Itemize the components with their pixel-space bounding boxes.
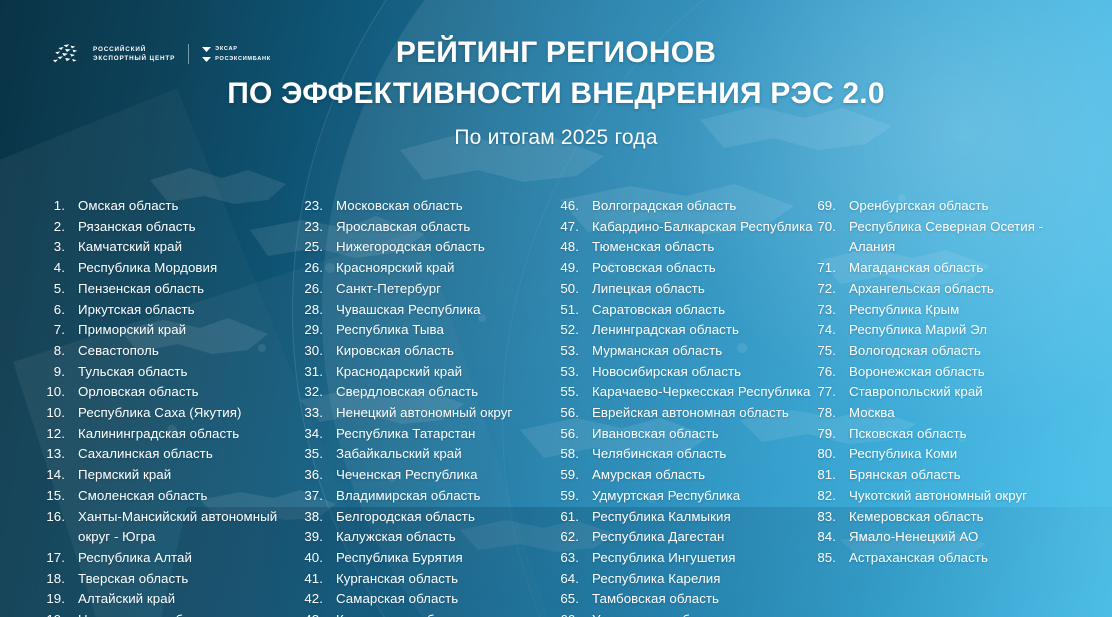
ranking-position: 85. (815, 548, 849, 569)
ranking-row: 18.Тверская область (44, 569, 302, 590)
ranking-row: 25.Нижегородская область (302, 237, 558, 258)
ranking-row: 30.Кировская область (302, 341, 558, 362)
ranking-position: 64. (558, 569, 592, 590)
ranking-region-name: Псковская область (849, 424, 1086, 445)
ranking-position: 15. (44, 486, 78, 507)
ranking-position: 83. (815, 507, 849, 528)
ranking-row: 55.Карачаево-Черкесская Республика (558, 382, 815, 403)
ranking-region-name: Астраханская область (849, 548, 1086, 569)
ranking-region-name: Краснодарский край (336, 362, 558, 383)
ranking-position: 18. (44, 569, 78, 590)
ranking-position: 5. (44, 279, 78, 300)
ranking-row: 12.Калининградская область (44, 424, 302, 445)
ranking-row: 3.Камчатский край (44, 237, 302, 258)
ranking-row: 9.Тульская область (44, 362, 302, 383)
ranking-row: 23.Московская область (302, 196, 558, 217)
ranking-region-name: Кемеровская область (849, 507, 1086, 528)
ranking-row: 79.Псковская область (815, 424, 1086, 445)
ranking-row: 77.Ставропольский край (815, 382, 1086, 403)
ranking-row: 1.Омская область (44, 196, 302, 217)
ranking-row: 17.Республика Алтай (44, 548, 302, 569)
ranking-row: 32.Свердловская область (302, 382, 558, 403)
ranking-position: 63. (558, 548, 592, 569)
ranking-position: 26. (302, 258, 336, 279)
ranking-row: 76.Воронежская область (815, 362, 1086, 383)
page-title: РЕЙТИНГ РЕГИОНОВ ПО ЭФФЕКТИВНОСТИ ВНЕДРЕ… (0, 33, 1112, 115)
ranking-position: 51. (558, 300, 592, 321)
ranking-row: 74.Республика Марий Эл (815, 320, 1086, 341)
ranking-row: 8.Севастополь (44, 341, 302, 362)
ranking-row: 72.Архангельская область (815, 279, 1086, 300)
ranking-region-name: Саратовская область (592, 300, 815, 321)
ranking-region-name: Тульская область (78, 362, 302, 383)
ranking-position: 16. (44, 507, 78, 528)
ranking-region-name: Калужская область (336, 527, 558, 548)
ranking-row: 15.Смоленская область (44, 486, 302, 507)
ranking-row: 51.Саратовская область (558, 300, 815, 321)
ranking-row: 83.Кемеровская область (815, 507, 1086, 528)
ranking-row: 61.Республика Калмыкия (558, 507, 815, 528)
ranking-row: 81.Брянская область (815, 465, 1086, 486)
ranking-region-name: Воронежская область (849, 362, 1086, 383)
ranking-position: 69. (815, 196, 849, 217)
ranking-position: 58. (558, 444, 592, 465)
ranking-row: 84.Ямало-Ненецкий АО (815, 527, 1086, 548)
ranking-position: 23. (302, 217, 336, 238)
ranking-region-name: Республика Бурятия (336, 548, 558, 569)
ranking-position: 17. (44, 548, 78, 569)
ranking-row: 71.Магаданская область (815, 258, 1086, 279)
ranking-row: 42.Самарская область (302, 589, 558, 610)
ranking-position: 26. (302, 279, 336, 300)
ranking-position: 12. (44, 424, 78, 445)
ranking-region-name: Еврейская автономная область (592, 403, 815, 424)
ranking-row: 23.Ярославская область (302, 217, 558, 238)
ranking-position: 8. (44, 341, 78, 362)
ranking-position: 31. (302, 362, 336, 383)
ranking-row: 10.Орловская область (44, 382, 302, 403)
ranking-region-name: Новгородская область (78, 610, 302, 617)
ranking-region-name: Республика Саха (Якутия) (78, 403, 302, 424)
ranking-position: 59. (558, 486, 592, 507)
ranking-position: 2. (44, 217, 78, 238)
ranking-row: 7.Приморский край (44, 320, 302, 341)
ranking-row: 33.Ненецкий автономный округ (302, 403, 558, 424)
ranking-region-name: Магаданская область (849, 258, 1086, 279)
ranking-position: 70. (815, 217, 849, 238)
ranking-row: 43.Костромская область (302, 610, 558, 617)
ranking-position: 41. (302, 569, 336, 590)
ranking-row: 34.Республика Татарстан (302, 424, 558, 445)
ranking-region-name: Севастополь (78, 341, 302, 362)
ranking-row: 40.Республика Бурятия (302, 548, 558, 569)
ranking-row: 53.Мурманская область (558, 341, 815, 362)
ranking-region-name: Республика Северная Осетия - Алания (849, 217, 1086, 258)
ranking-region-name: Сахалинская область (78, 444, 302, 465)
ranking-region-name: Волгоградская область (592, 196, 815, 217)
ranking-region-name: Санкт-Петербург (336, 279, 558, 300)
ranking-row: 75.Вологодская область (815, 341, 1086, 362)
ranking-position: 53. (558, 341, 592, 362)
ranking-region-name: Вологодская область (849, 341, 1086, 362)
ranking-region-name: Кабардино-Балкарская Республика (592, 217, 815, 238)
ranking-region-name: Костромская область (336, 610, 558, 617)
ranking-region-name: Иркутская область (78, 300, 302, 321)
ranking-region-name: Чукотский автономный округ (849, 486, 1086, 507)
ranking-region-name: Московская область (336, 196, 558, 217)
ranking-region-name: Мурманская область (592, 341, 815, 362)
ranking-position: 74. (815, 320, 849, 341)
ranking-region-name: Самарская область (336, 589, 558, 610)
ranking-region-name: Смоленская область (78, 486, 302, 507)
ranking-position: 10. (44, 382, 78, 403)
ranking-row: 16.Ханты-Мансийский автономный округ - Ю… (44, 507, 302, 548)
page-title-line-1: РЕЙТИНГ РЕГИОНОВ (0, 33, 1112, 74)
ranking-region-name: Нижегородская область (336, 237, 558, 258)
ranking-region-name: Забайкальский край (336, 444, 558, 465)
ranking-row: 66.Ульяновская область (558, 610, 815, 617)
ranking-row: 59.Удмуртская Республика (558, 486, 815, 507)
ranking-region-name: Тверская область (78, 569, 302, 590)
ranking-row: 37.Владимирская область (302, 486, 558, 507)
ranking-position: 76. (815, 362, 849, 383)
ranking-region-name: Ивановская область (592, 424, 815, 445)
ranking-position: 29. (302, 320, 336, 341)
ranking-position: 43. (302, 610, 336, 617)
ranking-region-name: Кировская область (336, 341, 558, 362)
ranking-position: 80. (815, 444, 849, 465)
ranking-region-name: Республика Калмыкия (592, 507, 815, 528)
ranking-row: 39.Калужская область (302, 527, 558, 548)
ranking-position: 53. (558, 362, 592, 383)
ranking-region-name: Тамбовская область (592, 589, 815, 610)
ranking-row: 56.Еврейская автономная область (558, 403, 815, 424)
ranking-row: 4.Республика Мордовия (44, 258, 302, 279)
ranking-column-3: 46.Волгоградская область47.Кабардино-Бал… (558, 196, 815, 617)
ranking-columns: 1.Омская область2.Рязанская область3.Кам… (44, 196, 1086, 617)
ranking-region-name: Красноярский край (336, 258, 558, 279)
ranking-row: 36.Чеченская Республика (302, 465, 558, 486)
ranking-row: 5.Пензенская область (44, 279, 302, 300)
page-title-line-2: ПО ЭФФЕКТИВНОСТИ ВНЕДРЕНИЯ РЭС 2.0 (0, 74, 1112, 115)
ranking-row: 47.Кабардино-Балкарская Республика (558, 217, 815, 238)
ranking-position: 19. (44, 589, 78, 610)
ranking-position: 47. (558, 217, 592, 238)
ranking-region-name: Ульяновская область (592, 610, 815, 617)
ranking-row: 69.Оренбургская область (815, 196, 1086, 217)
ranking-position: 56. (558, 403, 592, 424)
ranking-row: 48.Тюменская область (558, 237, 815, 258)
ranking-position: 42. (302, 589, 336, 610)
ranking-position: 61. (558, 507, 592, 528)
ranking-row: 13.Сахалинская область (44, 444, 302, 465)
ranking-row: 6.Иркутская область (44, 300, 302, 321)
ranking-row: 19.Новгородская область (44, 610, 302, 617)
ranking-region-name: Тюменская область (592, 237, 815, 258)
ranking-region-name: Оренбургская область (849, 196, 1086, 217)
ranking-row: 65.Тамбовская область (558, 589, 815, 610)
page-subtitle: По итогам 2025 года (0, 126, 1112, 150)
ranking-region-name: Чеченская Республика (336, 465, 558, 486)
ranking-position: 75. (815, 341, 849, 362)
ranking-region-name: Белгородская область (336, 507, 558, 528)
ranking-position: 40. (302, 548, 336, 569)
ranking-region-name: Пермский край (78, 465, 302, 486)
ranking-row: 26.Санкт-Петербург (302, 279, 558, 300)
ranking-row: 38.Белгородская область (302, 507, 558, 528)
ranking-region-name: Ставропольский край (849, 382, 1086, 403)
ranking-region-name: Ямало-Ненецкий АО (849, 527, 1086, 548)
ranking-row: 49.Ростовская область (558, 258, 815, 279)
ranking-position: 49. (558, 258, 592, 279)
ranking-position: 32. (302, 382, 336, 403)
ranking-position: 34. (302, 424, 336, 445)
ranking-region-name: Орловская область (78, 382, 302, 403)
ranking-region-name: Ростовская область (592, 258, 815, 279)
ranking-region-name: Республика Татарстан (336, 424, 558, 445)
ranking-region-name: Республика Коми (849, 444, 1086, 465)
ranking-region-name: Чувашская Республика (336, 300, 558, 321)
ranking-region-name: Липецкая область (592, 279, 815, 300)
ranking-position: 66. (558, 610, 592, 617)
ranking-row: 58.Челябинская область (558, 444, 815, 465)
slide-root: РОССИЙСКИЙ ЭКСПОРТНЫЙ ЦЕНТР ЭКСАР РОСЭКС… (0, 0, 1112, 617)
ranking-region-name: Новосибирская область (592, 362, 815, 383)
ranking-region-name: Пензенская область (78, 279, 302, 300)
ranking-region-name: Рязанская область (78, 217, 302, 238)
ranking-position: 33. (302, 403, 336, 424)
ranking-region-name: Республика Крым (849, 300, 1086, 321)
ranking-region-name: Москва (849, 403, 1086, 424)
ranking-position: 84. (815, 527, 849, 548)
ranking-position: 35. (302, 444, 336, 465)
ranking-position: 36. (302, 465, 336, 486)
ranking-region-name: Республика Тыва (336, 320, 558, 341)
ranking-position: 46. (558, 196, 592, 217)
ranking-region-name: Омская область (78, 196, 302, 217)
ranking-position: 28. (302, 300, 336, 321)
ranking-region-name: Ненецкий автономный округ (336, 403, 558, 424)
ranking-region-name: Приморский край (78, 320, 302, 341)
ranking-row: 82.Чукотский автономный округ (815, 486, 1086, 507)
ranking-region-name: Алтайский край (78, 589, 302, 610)
ranking-row: 63.Республика Ингушетия (558, 548, 815, 569)
ranking-region-name: Камчатский край (78, 237, 302, 258)
ranking-region-name: Архангельская область (849, 279, 1086, 300)
ranking-row: 31.Краснодарский край (302, 362, 558, 383)
ranking-region-name: Брянская область (849, 465, 1086, 486)
ranking-position: 72. (815, 279, 849, 300)
ranking-row: 70.Республика Северная Осетия - Алания (815, 217, 1086, 258)
ranking-row: 26.Красноярский край (302, 258, 558, 279)
ranking-position: 71. (815, 258, 849, 279)
ranking-position: 79. (815, 424, 849, 445)
ranking-position: 55. (558, 382, 592, 403)
ranking-region-name: Ярославская область (336, 217, 558, 238)
ranking-row: 10.Республика Саха (Якутия) (44, 403, 302, 424)
ranking-region-name: Республика Дагестан (592, 527, 815, 548)
ranking-position: 9. (44, 362, 78, 383)
ranking-row: 46.Волгоградская область (558, 196, 815, 217)
ranking-row: 62.Республика Дагестан (558, 527, 815, 548)
ranking-position: 25. (302, 237, 336, 258)
ranking-position: 1. (44, 196, 78, 217)
ranking-row: 64.Республика Карелия (558, 569, 815, 590)
ranking-position: 78. (815, 403, 849, 424)
ranking-region-name: Карачаево-Черкесская Республика (592, 382, 815, 403)
ranking-position: 39. (302, 527, 336, 548)
ranking-row: 50.Липецкая область (558, 279, 815, 300)
ranking-position: 37. (302, 486, 336, 507)
ranking-position: 62. (558, 527, 592, 548)
ranking-region-name: Республика Алтай (78, 548, 302, 569)
ranking-position: 30. (302, 341, 336, 362)
ranking-position: 77. (815, 382, 849, 403)
ranking-row: 80.Республика Коми (815, 444, 1086, 465)
ranking-row: 78.Москва (815, 403, 1086, 424)
ranking-row: 56.Ивановская область (558, 424, 815, 445)
ranking-position: 48. (558, 237, 592, 258)
ranking-position: 59. (558, 465, 592, 486)
ranking-position: 6. (44, 300, 78, 321)
ranking-region-name: Удмуртская Республика (592, 486, 815, 507)
ranking-region-name: Свердловская область (336, 382, 558, 403)
ranking-row: 73.Республика Крым (815, 300, 1086, 321)
ranking-region-name: Республика Карелия (592, 569, 815, 590)
ranking-position: 14. (44, 465, 78, 486)
ranking-row: 19.Алтайский край (44, 589, 302, 610)
ranking-column-2: 23.Московская область23.Ярославская обла… (302, 196, 558, 617)
ranking-region-name: Республика Мордовия (78, 258, 302, 279)
ranking-row: 53.Новосибирская область (558, 362, 815, 383)
ranking-row: 52.Ленинградская область (558, 320, 815, 341)
ranking-row: 59.Амурская область (558, 465, 815, 486)
ranking-position: 13. (44, 444, 78, 465)
ranking-position: 73. (815, 300, 849, 321)
ranking-position: 38. (302, 507, 336, 528)
ranking-region-name: Калининградская область (78, 424, 302, 445)
ranking-region-name: Ленинградская область (592, 320, 815, 341)
ranking-position: 23. (302, 196, 336, 217)
ranking-position: 52. (558, 320, 592, 341)
ranking-row: 28.Чувашская Республика (302, 300, 558, 321)
ranking-column-1: 1.Омская область2.Рязанская область3.Кам… (44, 196, 302, 617)
ranking-position: 56. (558, 424, 592, 445)
ranking-row: 85.Астраханская область (815, 548, 1086, 569)
ranking-row: 41.Курганская область (302, 569, 558, 590)
ranking-region-name: Челябинская область (592, 444, 815, 465)
ranking-position: 81. (815, 465, 849, 486)
ranking-column-4: 69.Оренбургская область70.Республика Сев… (815, 196, 1086, 617)
ranking-region-name: Республика Ингушетия (592, 548, 815, 569)
ranking-row: 2.Рязанская область (44, 217, 302, 238)
ranking-region-name: Владимирская область (336, 486, 558, 507)
ranking-position: 10. (44, 403, 78, 424)
ranking-position: 65. (558, 589, 592, 610)
ranking-row: 29.Республика Тыва (302, 320, 558, 341)
ranking-row: 14.Пермский край (44, 465, 302, 486)
ranking-position: 19. (44, 610, 78, 617)
ranking-region-name: Ханты-Мансийский автономный округ - Югра (78, 507, 302, 548)
ranking-position: 82. (815, 486, 849, 507)
ranking-row: 35.Забайкальский край (302, 444, 558, 465)
ranking-region-name: Амурская область (592, 465, 815, 486)
ranking-position: 50. (558, 279, 592, 300)
ranking-position: 4. (44, 258, 78, 279)
ranking-region-name: Курганская область (336, 569, 558, 590)
ranking-region-name: Республика Марий Эл (849, 320, 1086, 341)
ranking-position: 3. (44, 237, 78, 258)
ranking-position: 7. (44, 320, 78, 341)
